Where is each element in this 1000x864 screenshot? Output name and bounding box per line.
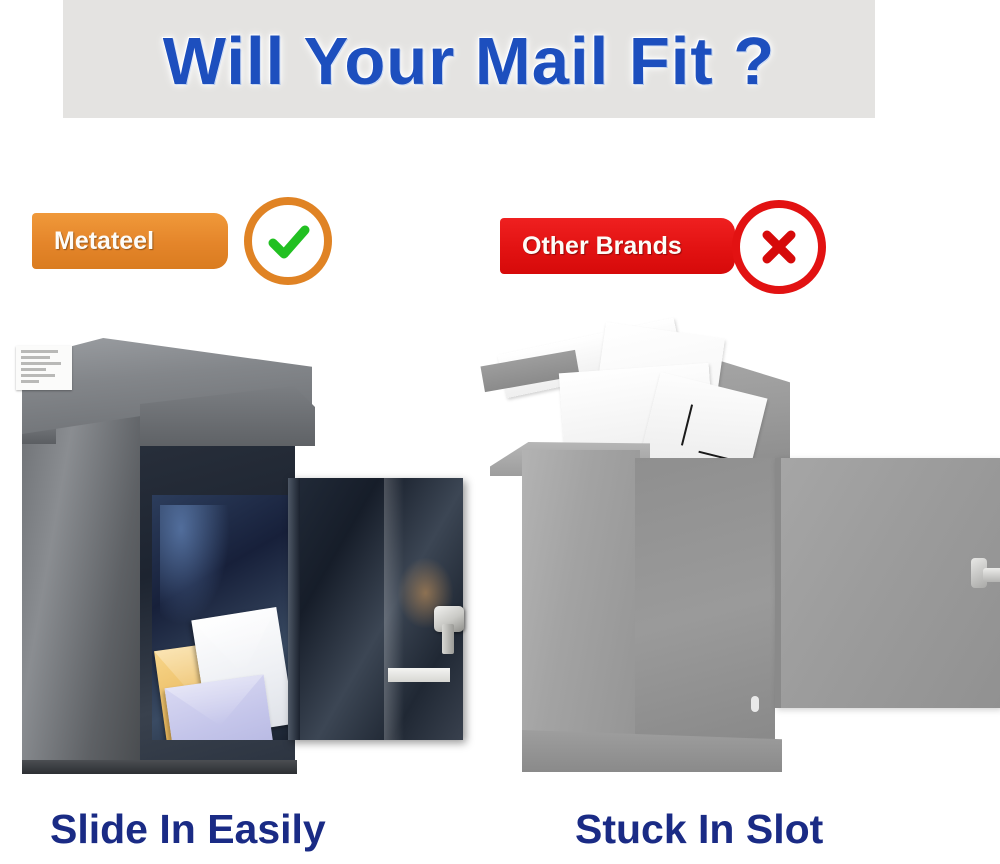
product-photo-other-brands bbox=[480, 330, 1000, 810]
badge-metateel: Metateel bbox=[32, 213, 322, 269]
interior-glow bbox=[160, 505, 230, 625]
mailbox-open-door bbox=[288, 478, 463, 740]
cross-icon bbox=[753, 221, 805, 273]
mailbox-side-panel bbox=[522, 450, 640, 770]
door-lock-pin bbox=[442, 624, 454, 654]
mailbox-open-door bbox=[775, 458, 1000, 708]
door-edge bbox=[775, 458, 781, 708]
caption-bad: Stuck In Slot bbox=[575, 806, 823, 853]
badge-other-brands: Other Brands bbox=[500, 218, 830, 274]
mailbox-bottom-edge bbox=[22, 760, 297, 774]
mailbox-front-panel bbox=[635, 458, 775, 770]
brand-label-bad: Other Brands bbox=[522, 232, 682, 261]
door-latch-icon bbox=[983, 568, 1000, 582]
brand-label-good: Metateel bbox=[54, 227, 154, 256]
status-circle-good bbox=[244, 197, 332, 285]
badge-bar-orange: Metateel bbox=[32, 213, 228, 269]
envelope-flap bbox=[191, 607, 286, 681]
check-icon bbox=[262, 215, 314, 267]
product-photo-metateel bbox=[0, 330, 500, 810]
door-hinge bbox=[288, 478, 300, 740]
door-nameplate bbox=[388, 668, 450, 682]
status-circle-bad bbox=[732, 200, 826, 294]
caption-good: Slide In Easily bbox=[50, 806, 326, 853]
page-title: Will Your Mail Fit ? bbox=[63, 24, 875, 98]
product-spec-sticker bbox=[16, 346, 72, 390]
keyhole bbox=[751, 696, 759, 712]
mailbox-interior-cavity bbox=[152, 495, 292, 740]
badge-bar-red: Other Brands bbox=[500, 218, 735, 274]
